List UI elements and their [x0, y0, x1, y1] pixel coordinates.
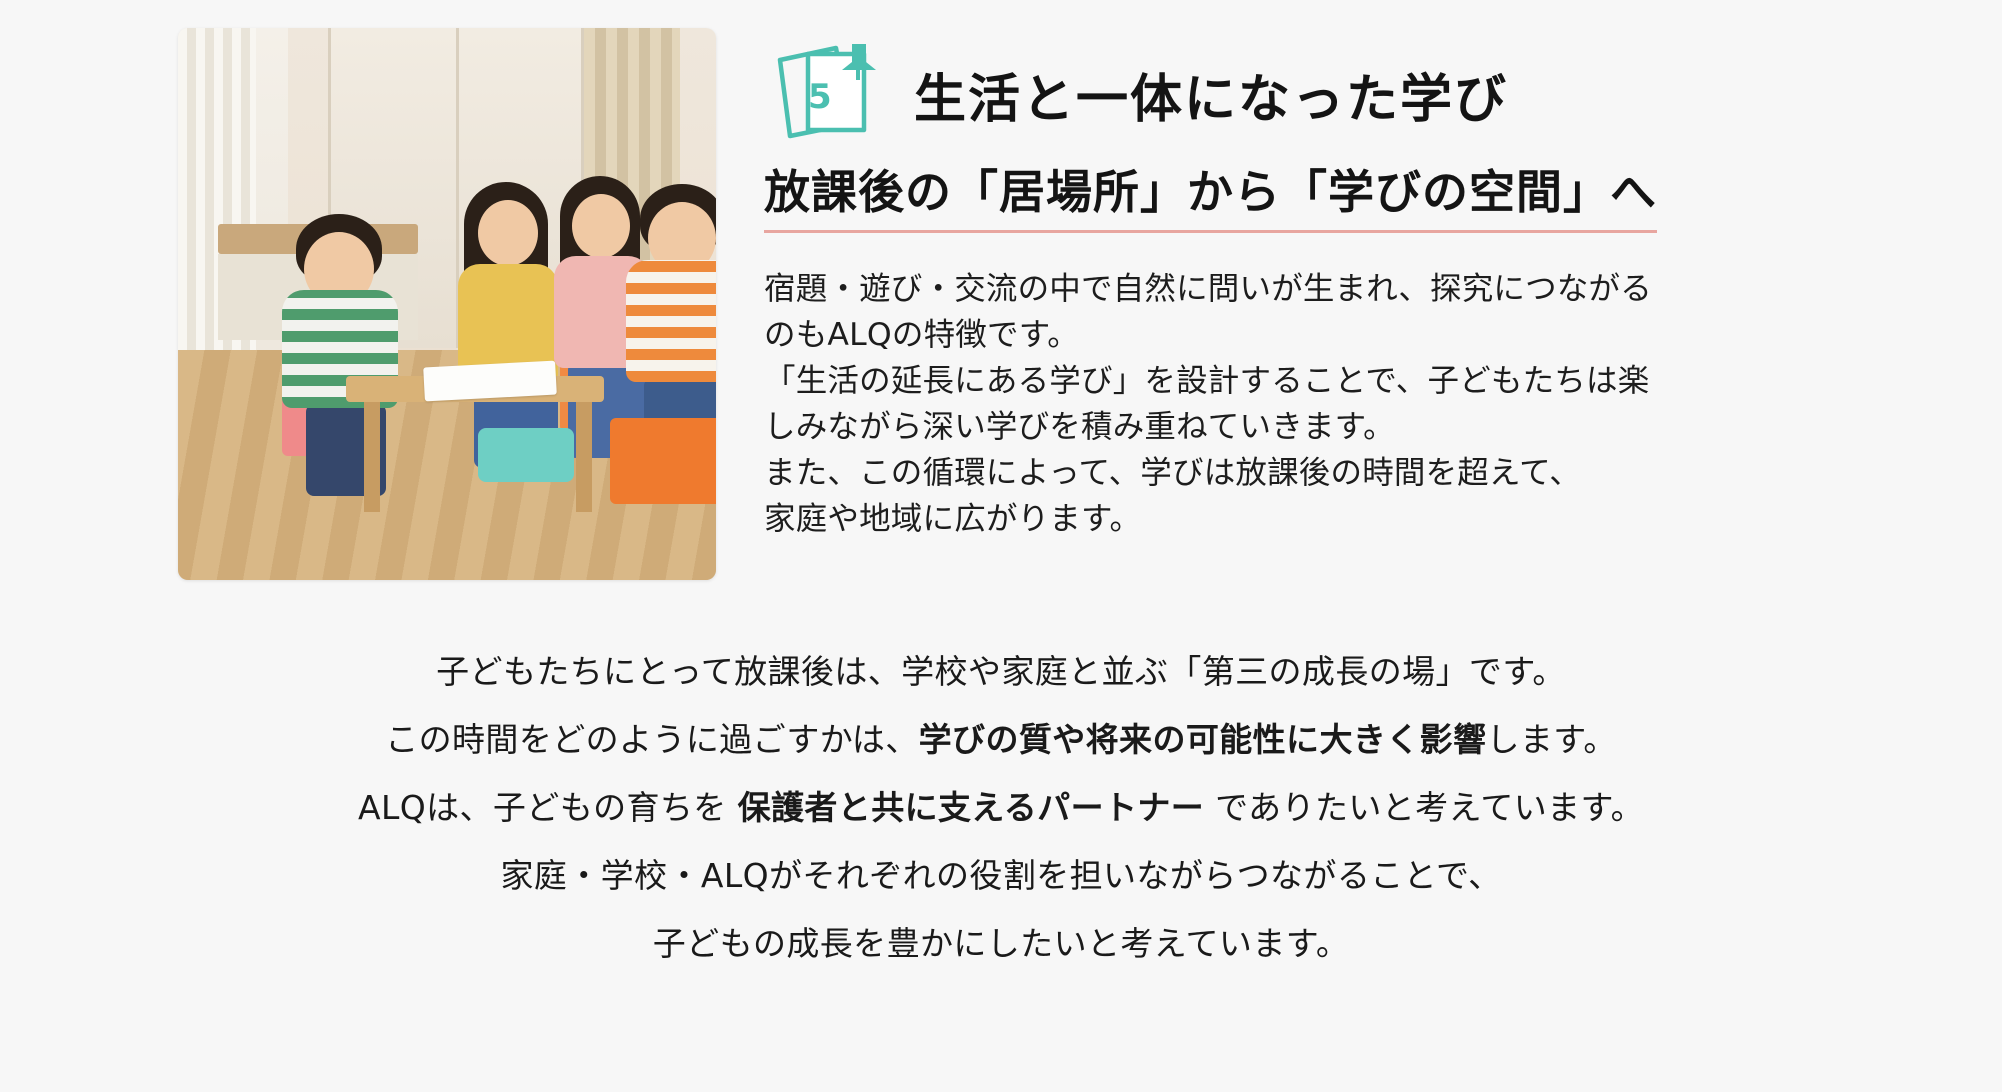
closing-line: 子どもの成長を豊かにしたいと考えています。 — [0, 910, 2002, 978]
closing-text: この時間をどのように過ごすかは、 — [385, 720, 918, 759]
closing-emphasis: 保護者と共に支えるパートナー — [738, 788, 1205, 827]
section-paragraph: 宿題・遊び・交流の中で自然に問いが生まれ、探究につながる のもALQの特徴です。… — [764, 267, 2002, 543]
photo-notebook — [423, 361, 557, 402]
children-studying-photo — [178, 28, 716, 580]
section-heading-row: 5 生活と一体になった学び — [764, 38, 2002, 150]
paragraph-line: 「生活の延長にある学び」を設計することで、子どもたちは楽 — [764, 359, 2002, 405]
section-subtitle: 放課後の「居場所」から「学びの空間」へ — [764, 156, 1657, 233]
paragraph-line: のもALQの特徴です。 — [764, 313, 2002, 359]
page-title: 生活と一体になった学び — [914, 57, 1508, 132]
photo-table-leg-right — [576, 402, 592, 512]
section-number: 5 — [808, 77, 832, 117]
closing-text: ALQは、子どもの育ちを — [358, 788, 738, 827]
photo-stool-orange-front — [610, 418, 716, 504]
paragraph-line: しみながら深い学びを積み重ねていきます。 — [764, 405, 2002, 451]
closing-text: 家庭・学校・ALQがそれぞれの役割を担いながらつながることで、 — [500, 856, 1501, 895]
closing-line: この時間をどのように過ごすかは、学びの質や将来の可能性に大きく影響します。 — [0, 706, 2002, 774]
paragraph-line: 家庭や地域に広がります。 — [764, 497, 2002, 543]
intro-section: 5 生活と一体になった学び 放課後の「居場所」から「学びの空間」へ 宿題・遊び・… — [0, 0, 2002, 580]
section-text-column: 5 生活と一体になった学び 放課後の「居場所」から「学びの空間」へ 宿題・遊び・… — [764, 28, 2002, 543]
photo-illustration — [178, 28, 716, 580]
closing-text: 子どもの成長を豊かにしたいと考えています。 — [653, 924, 1349, 963]
pinned-note-icon: 5 — [764, 38, 896, 150]
paragraph-line: 宿題・遊び・交流の中で自然に問いが生まれ、探究につながる — [764, 267, 2002, 313]
photo-table-leg-left — [364, 402, 380, 512]
closing-line: 家庭・学校・ALQがそれぞれの役割を担いながらつながることで、 — [0, 842, 2002, 910]
closing-line: 子どもたちにとって放課後は、学校や家庭と並ぶ「第三の成長の場」です。 — [0, 638, 2002, 706]
closing-emphasis: 学びの質や将来の可能性に大きく影響 — [919, 720, 1487, 759]
closing-line: ALQは、子どもの育ちを 保護者と共に支えるパートナー でありたいと考えています… — [0, 774, 2002, 842]
closing-text: します。 — [1486, 720, 1616, 759]
closing-text: でありたいと考えています。 — [1204, 788, 1644, 827]
paragraph-line: また、この循環によって、学びは放課後の時間を超えて、 — [764, 451, 2002, 497]
closing-statement: 子どもたちにとって放課後は、学校や家庭と並ぶ「第三の成長の場」です。 この時間を… — [0, 638, 2002, 978]
closing-text: 子どもたちにとって放課後は、学校や家庭と並ぶ「第三の成長の場」です。 — [436, 652, 1566, 691]
photo-stool-teal — [478, 428, 574, 482]
